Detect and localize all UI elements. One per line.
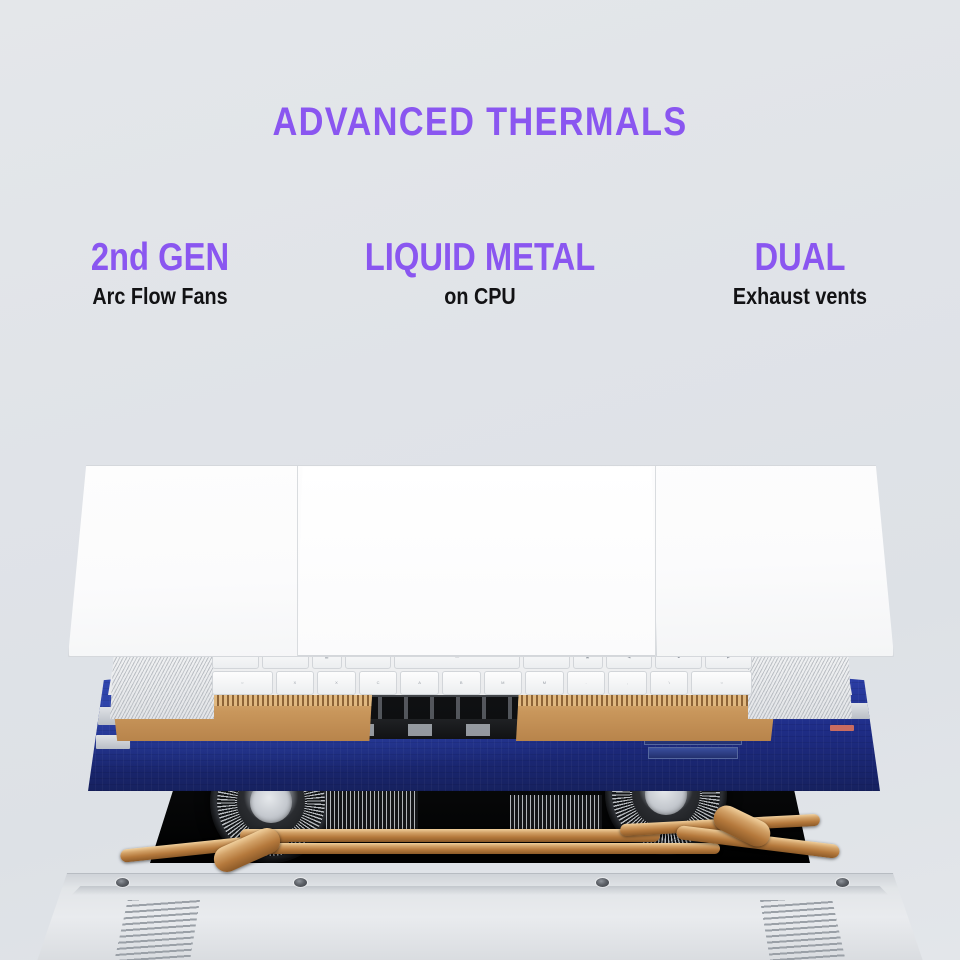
- deck-seam: [297, 466, 298, 656]
- chassis-lip: [36, 886, 924, 895]
- feature-list: 2nd GEN Arc Flow Fans LIQUID METAL on CP…: [0, 238, 960, 308]
- feature-subtext: Exhaust vents: [662, 284, 937, 308]
- heatsink-fin-stack-right: [516, 695, 776, 741]
- bottom-chassis: [36, 873, 924, 960]
- screw-icon: [294, 878, 307, 887]
- keyboard-row-bottom: ○ X X C A B M M . , \ ○: [212, 671, 752, 695]
- feature-headline: LIQUID METAL: [346, 238, 615, 278]
- product-exploded-view: ▦ — ▣ ◀ ▲ ▶ ○ X X C A B M M . , \: [0, 455, 960, 960]
- key: X: [317, 671, 356, 695]
- screw-icon: [596, 878, 609, 887]
- feature-headline: 2nd GEN: [26, 238, 295, 278]
- touchpad-panel: [297, 467, 657, 656]
- key: B: [442, 671, 481, 695]
- screw-icon: [116, 878, 129, 887]
- heat-pipe: [260, 843, 720, 854]
- key: M: [484, 671, 523, 695]
- promo-canvas: ADVANCED THERMALS 2nd GEN Arc Flow Fans …: [0, 0, 960, 960]
- feature-subtext: Arc Flow Fans: [22, 284, 297, 308]
- deck-seam: [655, 466, 656, 656]
- key: ,: [608, 671, 647, 695]
- key: A: [400, 671, 439, 695]
- page-title: ADVANCED THERMALS: [67, 100, 893, 145]
- key: C: [359, 671, 398, 695]
- key: X: [276, 671, 315, 695]
- feature-item-dual-exhaust: DUAL Exhaust vents: [640, 238, 960, 308]
- exhaust-vent-right: [760, 900, 846, 960]
- feature-item-liquid-metal: LIQUID METAL on CPU: [320, 238, 640, 308]
- pcb-connector: [830, 725, 854, 731]
- top-deck-panel: [68, 465, 894, 657]
- memory-module: [648, 747, 738, 759]
- copper-heat-pipes: [120, 807, 840, 879]
- feature-item-arc-flow-fans: 2nd GEN Arc Flow Fans: [0, 238, 320, 308]
- feature-headline: DUAL: [666, 238, 935, 278]
- heat-pipe: [240, 829, 660, 842]
- screw-icon: [836, 878, 849, 887]
- key: \: [650, 671, 689, 695]
- exhaust-vent-left: [114, 900, 200, 960]
- key: ○: [691, 671, 752, 695]
- key: M: [525, 671, 564, 695]
- key: .: [567, 671, 606, 695]
- key: ○: [212, 671, 273, 695]
- feature-subtext: on CPU: [342, 284, 617, 308]
